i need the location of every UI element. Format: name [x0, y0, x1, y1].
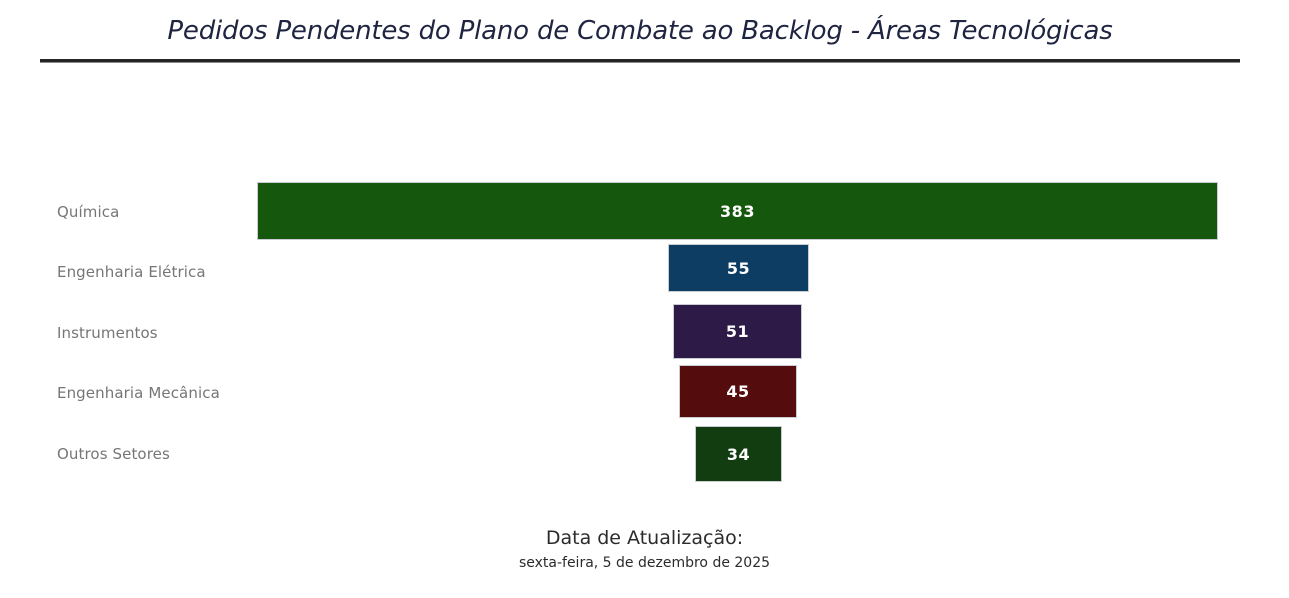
bar-value-engenharia-mecanica: 45 — [726, 382, 749, 401]
bar-value-outros-setores: 34 — [727, 445, 750, 464]
bar-quimica[interactable]: 383 — [258, 183, 1217, 239]
category-label-quimica: Química — [57, 203, 119, 221]
update-date-block: Data de Atualização: sexta-feira, 5 de d… — [0, 525, 1289, 575]
category-label-engenharia-eletrica: Engenharia Elétrica — [57, 263, 206, 281]
bar-instrumentos[interactable]: 51 — [674, 305, 801, 358]
update-date-value: sexta-feira, 5 de dezembro de 2025 — [0, 551, 1289, 575]
update-date-label: Data de Atualização: — [0, 525, 1289, 551]
bar-value-instrumentos: 51 — [726, 322, 749, 341]
bar-chart-plot-area: Química 383 Engenharia Elétrica 55 Instr… — [0, 0, 1289, 598]
bar-value-engenharia-eletrica: 55 — [727, 259, 750, 278]
category-label-instrumentos: Instrumentos — [57, 324, 158, 342]
bar-value-quimica: 383 — [720, 202, 755, 221]
bar-engenharia-eletrica[interactable]: 55 — [669, 245, 808, 291]
bar-outros-setores[interactable]: 34 — [696, 427, 781, 481]
category-label-outros-setores: Outros Setores — [57, 445, 170, 463]
bar-engenharia-mecanica[interactable]: 45 — [680, 366, 796, 417]
category-label-engenharia-mecanica: Engenharia Mecânica — [57, 384, 220, 402]
